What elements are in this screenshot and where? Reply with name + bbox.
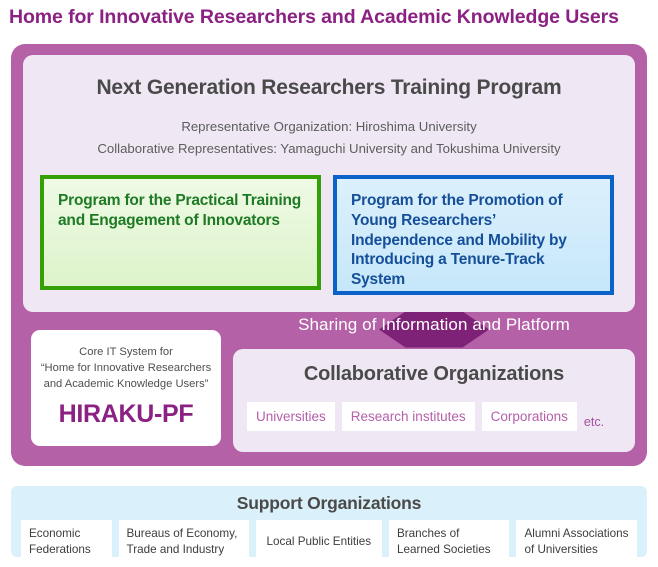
hiraku-pf-brand-name: HIRAKU-PF	[31, 400, 221, 429]
program-label-tenure-track: Program for the Promotion of Young Resea…	[351, 191, 596, 290]
page-title: Home for Innovative Researchers and Acad…	[9, 6, 649, 29]
sharing-of-information-band: Sharing of Information and Platform	[233, 312, 635, 347]
collaborative-representatives-text: Collaborative Representatives: Yamaguchi…	[23, 141, 635, 156]
hiraku-caption-line-2: “Home for Innovative Researchers	[31, 362, 221, 374]
hiraku-pf-card[interactable]: Core IT System for “Home for Innovative …	[31, 330, 221, 446]
support-chip-economic-federations[interactable]: Economic Federations	[21, 520, 112, 563]
representative-organization-text: Representative Organization: Hiroshima U…	[23, 119, 635, 134]
collaborative-chip-universities[interactable]: Universities	[247, 402, 335, 431]
support-chip-local-public-entities[interactable]: Local Public Entities	[256, 520, 382, 563]
hiraku-caption-line-3: and Academic Knowledge Users”	[31, 378, 221, 390]
sharing-band-label: Sharing of Information and Platform	[233, 315, 635, 335]
program-box-tenure-track[interactable]: Program for the Promotion of Young Resea…	[333, 175, 614, 295]
next-generation-title: Next Generation Researchers Training Pro…	[23, 76, 635, 100]
support-chip-branches-of-learned-societies[interactable]: Branches of Learned Societies	[389, 520, 510, 563]
collaborative-chip-research-institutes[interactable]: Research institutes	[342, 402, 475, 431]
hiraku-caption-line-1: Core IT System for	[31, 346, 221, 358]
support-organizations-panel: Support Organizations Economic Federatio…	[11, 486, 647, 557]
collaborative-chip-corporations[interactable]: Corporations	[482, 402, 577, 431]
support-chip-alumni-associations[interactable]: Alumni Associations of Universities	[516, 520, 637, 563]
support-chip-bureaus-of-economy[interactable]: Bureaus of Economy, Trade and Industry	[119, 520, 249, 563]
program-box-practical-training[interactable]: Program for the Practical Training and E…	[40, 175, 321, 290]
collaborative-organizations-title: Collaborative Organizations	[233, 363, 635, 386]
collaborative-etc-label: etc.	[584, 415, 604, 431]
collaborative-organizations-chip-list: Universities Research institutes Corpora…	[247, 402, 621, 431]
support-organizations-chip-list: Economic Federations Bureaus of Economy,…	[21, 520, 637, 563]
collaborative-organizations-panel: Collaborative Organizations Universities…	[233, 349, 635, 452]
program-label-practical-training: Program for the Practical Training and E…	[58, 191, 303, 231]
support-organizations-title: Support Organizations	[11, 493, 647, 514]
